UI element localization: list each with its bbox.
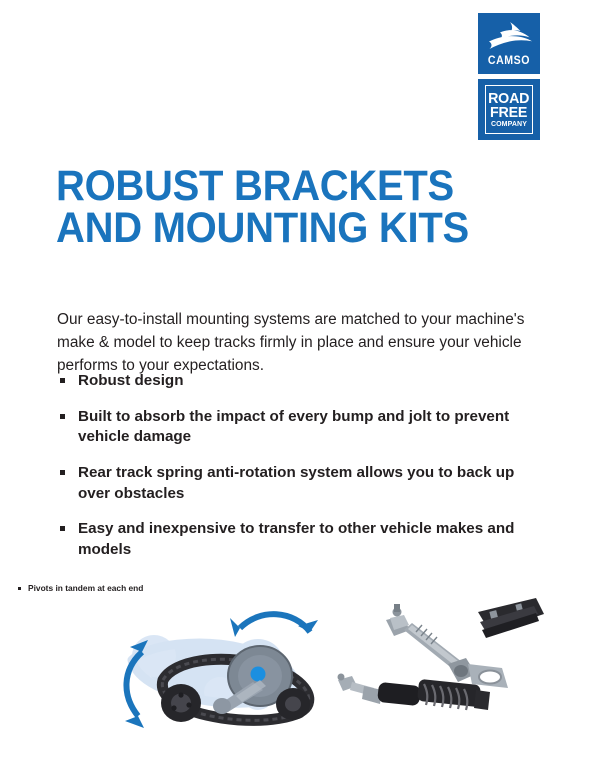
intro-paragraph: Our easy-to-install mounting systems are…	[57, 309, 537, 377]
camso-chevron-mark-icon	[486, 20, 532, 50]
footnote-label: Pivots in tandem at each end	[28, 583, 143, 593]
curved-double-arrow-icon	[230, 614, 318, 637]
list-item: Built to absorb the impact of every bump…	[57, 407, 537, 448]
bracket-rail	[478, 598, 544, 638]
mounting-hardware-photo	[330, 592, 545, 722]
camso-wordmark: CAMSO	[480, 56, 537, 68]
rubber-track-pivot-diagram	[108, 600, 338, 740]
list-item-label: Robust design	[78, 372, 183, 389]
brand-logo-stack: CAMSO ROAD FREE COMPANY	[478, 13, 540, 140]
page-title-line-1: ROBUST BRACKETS	[56, 165, 493, 207]
list-item: Rear track spring anti-rotation system a…	[57, 463, 537, 504]
square-bullet-icon	[60, 470, 65, 475]
rear-wheel	[276, 688, 310, 720]
badge-line-free: FREE	[490, 106, 527, 120]
coil-spring	[417, 679, 481, 710]
page-title: ROBUST BRACKETS AND MOUNTING KITS	[56, 165, 493, 249]
badge-line-company: COMPANY	[491, 121, 527, 128]
page-title-line-2: AND MOUNTING KITS	[56, 207, 493, 249]
track-assembly-illustration	[108, 600, 338, 740]
spring-damper-assembly	[338, 674, 491, 711]
list-item-label: Rear track spring anti-rotation system a…	[78, 464, 514, 502]
square-bullet-icon	[60, 414, 65, 419]
footnote: Pivots in tandem at each end	[18, 583, 143, 593]
list-item: Robust design	[57, 371, 537, 392]
road-free-company-badge: ROAD FREE COMPANY	[478, 79, 540, 140]
feature-bullet-list: Robust design Built to absorb the impact…	[57, 371, 537, 561]
camso-logo-box: CAMSO	[478, 13, 540, 74]
list-item-label: Easy and inexpensive to transfer to othe…	[78, 520, 514, 558]
hardware-illustration	[330, 592, 545, 722]
square-bullet-icon	[60, 526, 65, 531]
list-item-label: Built to absorb the impact of every bump…	[78, 408, 509, 446]
square-bullet-icon	[60, 378, 65, 383]
square-bullet-icon	[18, 587, 21, 590]
front-idler-wheel	[161, 684, 201, 722]
pivot-hub-icon	[251, 667, 266, 682]
list-item: Easy and inexpensive to transfer to othe…	[57, 519, 537, 560]
